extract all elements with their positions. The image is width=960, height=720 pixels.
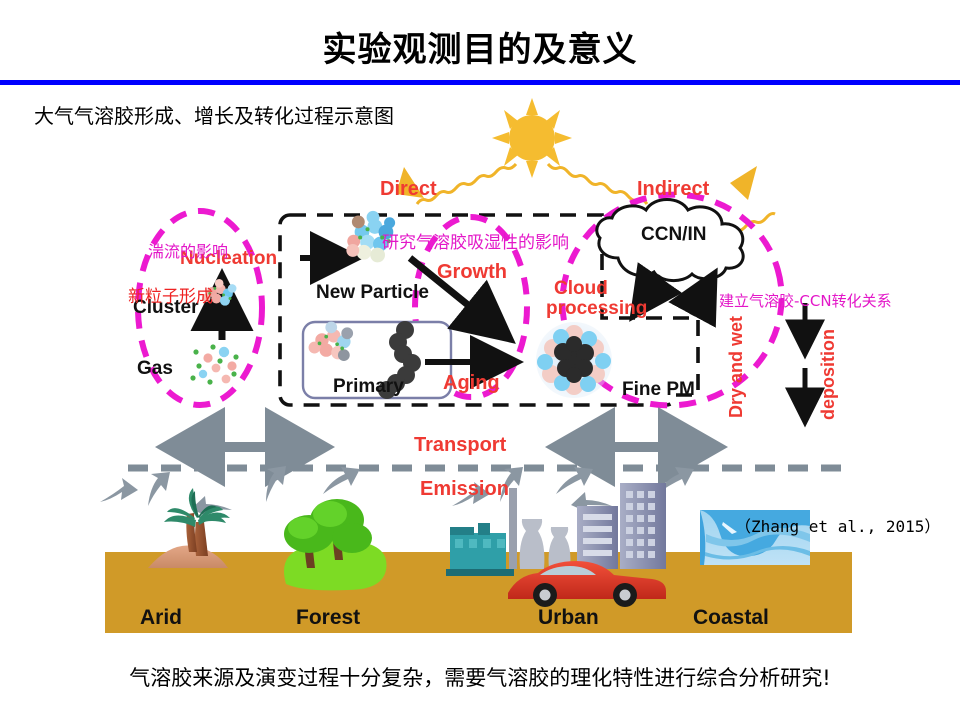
label-coastal: Coastal <box>693 606 769 630</box>
page-title: 实验观测目的及意义 <box>0 22 960 71</box>
label-fine-pm: Fine PM <box>622 379 695 401</box>
annotation-ccn-relation: 建立气溶胶-CCN转化关系 <box>719 290 892 311</box>
annotation-turbulence: 湍流的影响 <box>148 238 228 262</box>
label-aging: Aging <box>443 372 500 395</box>
building-icon <box>577 483 666 569</box>
label-deposition: deposition <box>818 329 839 420</box>
aerosol-process-diagram: Direct Indirect Nucleation Cluster Gas N… <box>0 90 960 650</box>
label-growth: Growth <box>437 261 507 284</box>
label-forest: Forest <box>296 606 360 630</box>
annotation-hygroscopicity: 研究气溶胶吸湿性的影响 <box>382 228 569 253</box>
label-arid: Arid <box>140 606 182 630</box>
label-emission: Emission <box>420 478 509 501</box>
forest-tree-icon <box>284 499 387 590</box>
source-citation: （Zhang et al., 2015） <box>735 513 940 537</box>
label-ccn-in: CCN/IN <box>641 224 706 246</box>
label-transport: Transport <box>414 434 506 457</box>
annotation-new-particle-formation: 新粒子形成 <box>128 282 213 307</box>
label-gas: Gas <box>137 358 173 380</box>
slide-root: 实验观测目的及意义 大气气溶胶形成、增长及转化过程示意图 <box>0 0 960 720</box>
title-divider <box>0 80 960 85</box>
label-indirect: Indirect <box>637 178 709 201</box>
label-new-particle: New Particle <box>316 282 429 304</box>
label-dry-and-wet: Dry and wet <box>726 316 747 418</box>
label-urban: Urban <box>538 606 599 630</box>
label-direct: Direct <box>380 178 437 201</box>
label-cloud: Cloud <box>554 278 608 300</box>
sun-icon <box>492 98 572 178</box>
conclusion-caption: 气溶胶来源及演变过程十分复杂，需要气溶胶的理化特性进行综合分析研究! <box>0 662 960 692</box>
label-processing: processing <box>546 298 647 320</box>
fine-pm-particle-icon <box>536 322 612 398</box>
gas-molecules-icon <box>190 344 238 384</box>
label-primary: Primary <box>333 376 404 398</box>
